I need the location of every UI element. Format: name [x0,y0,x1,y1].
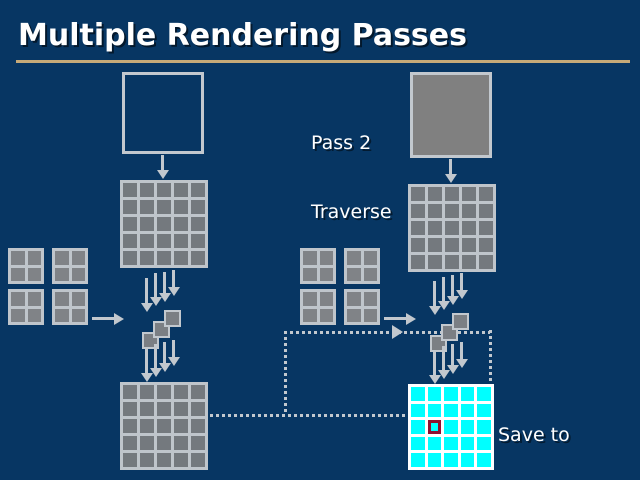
grid-cell [445,187,459,201]
grid-cell [411,187,425,201]
grid-cell [428,187,442,201]
middle-block-tile [344,289,380,325]
right-ray-arrow [442,346,445,371]
grid-cell [123,200,137,214]
left-ray-arrow [163,272,166,294]
grid-cell [191,402,205,416]
right-source-to-grid-arrow [449,159,452,175]
grid-cell [428,204,442,218]
grid-cell [191,385,205,399]
grid-cell [157,453,171,467]
block-cell [55,251,69,265]
grid-cell [191,200,205,214]
buffer-cell [461,387,475,401]
block-cell [28,309,42,323]
right-ray-arrow [460,273,463,291]
grid-cell [140,402,154,416]
grid-cell [140,419,154,433]
cascade-square [452,313,469,330]
offscreen-buffer-grid [408,384,494,470]
grid-cell [140,200,154,214]
grid-cell [123,183,137,197]
block-cell [55,309,69,323]
grid-cell [123,385,137,399]
block-cell [72,251,86,265]
grid-cell [191,419,205,433]
grid-cell [140,251,154,265]
save-to-offscreen-buffer-label: Save to offscreen buffer (ray voxel pr) [498,378,625,480]
left-block-tile [52,248,88,284]
grid-cell [191,234,205,248]
middle-block-tile [300,289,336,325]
save-label-line1: Save to [498,424,625,447]
grid-cell [462,255,476,269]
grid-cell [479,221,493,235]
title-divider [16,60,630,63]
buffer-cell [428,453,442,467]
grid-cell [157,436,171,450]
block-cell [364,309,378,323]
grid-cell [123,436,137,450]
grid-cell [123,217,137,231]
buffer-cell [444,420,458,434]
block-cell [72,292,86,306]
grid-cell [140,385,154,399]
buffer-cell [461,420,475,434]
left-ray-arrow [145,348,148,374]
block-cell [72,268,86,282]
grid-cell [479,238,493,252]
right-ray-arrow [433,350,436,376]
buffer-cell [411,387,425,401]
buffer-cell [444,404,458,418]
left-ray-arrow [154,273,157,298]
grid-cell [157,385,171,399]
grid-cell [174,234,188,248]
block-cell [28,292,42,306]
grid-cell [191,436,205,450]
grid-cell [411,238,425,252]
grid-cell [157,402,171,416]
grid-cell [462,238,476,252]
grid-cell [140,453,154,467]
middle-blocks-feed-arrow [384,317,406,320]
grid-cell [157,200,171,214]
grid-cell [479,187,493,201]
block-cell [11,251,25,265]
left-source-to-grid-arrow [161,155,164,171]
buffer-cell [411,453,425,467]
right-ray-arrow [442,277,445,302]
right-ray-arrow [460,342,463,360]
left-block-tile [8,248,44,284]
pass2-label-line2: Traverse [311,201,392,224]
grid-cell [191,251,205,265]
grid-cell [123,251,137,265]
right-ray-arrow [451,344,454,366]
left-block-tile [8,289,44,325]
feedback-path-vertical-left [284,331,287,415]
buffer-cell [444,387,458,401]
right-top-grid [408,184,496,272]
buffer-cell [461,437,475,451]
buffer-cell [428,387,442,401]
left-source-square [122,72,204,154]
grid-cell [140,436,154,450]
grid-cell [479,204,493,218]
grid-cell [174,453,188,467]
block-cell [11,292,25,306]
block-cell [55,268,69,282]
block-cell [55,292,69,306]
grid-cell [157,183,171,197]
buffer-cell [477,437,491,451]
grid-cell [123,234,137,248]
buffer-cell [461,404,475,418]
left-ray-arrow [172,270,175,288]
block-cell [28,251,42,265]
grid-cell [174,200,188,214]
slide-canvas: Multiple Rendering Passes [0,0,640,480]
buffer-cell [477,387,491,401]
left-ray-arrow [145,278,148,304]
buffer-cell [428,437,442,451]
block-cell [320,292,334,306]
grid-cell [428,255,442,269]
left-block-tile [52,289,88,325]
grid-cell [157,419,171,433]
grid-cell [157,234,171,248]
grid-cell [191,453,205,467]
right-ray-arrow [433,281,436,307]
grid-cell [157,251,171,265]
grid-cell [174,217,188,231]
grid-cell [157,217,171,231]
grid-cell [140,183,154,197]
grid-cell [123,453,137,467]
grid-cell [174,251,188,265]
left-blocks-feed-arrow [92,317,114,320]
grid-cell [445,255,459,269]
grid-cell [428,238,442,252]
right-ray-arrow [451,275,454,297]
page-title: Multiple Rendering Passes [18,18,467,53]
grid-cell [462,204,476,218]
grid-cell [174,183,188,197]
buffer-cell [411,437,425,451]
block-cell [303,309,317,323]
grid-cell [191,217,205,231]
feedback-path-arrowhead [392,325,403,339]
grid-cell [174,385,188,399]
left-top-grid [120,180,208,268]
grid-cell [479,255,493,269]
buffer-cell [477,404,491,418]
right-source-square [410,72,492,158]
buffer-cell-highlighted [428,420,442,434]
block-cell [364,292,378,306]
pass2-label: Pass 2 Traverse [311,86,392,270]
block-cell [11,268,25,282]
grid-cell [411,204,425,218]
pass2-label-line1: Pass 2 [311,132,392,155]
block-cell [72,309,86,323]
block-cell [347,292,361,306]
buffer-cell [411,404,425,418]
grid-cell [140,234,154,248]
grid-cell [140,217,154,231]
left-ray-arrow [172,340,175,358]
grid-cell [123,419,137,433]
grid-cell [462,187,476,201]
grid-cell [445,204,459,218]
block-cell [11,309,25,323]
grid-cell [428,221,442,235]
block-cell [347,309,361,323]
buffer-cell [461,453,475,467]
cascade-square [164,310,181,327]
grid-cell [462,221,476,235]
grid-cell [445,221,459,235]
buffer-cell [477,420,491,434]
buffer-cell [428,404,442,418]
grid-cell [191,183,205,197]
grid-cell [411,255,425,269]
block-cell [28,268,42,282]
buffer-cell [444,453,458,467]
left-result-grid [120,382,208,470]
buffer-cell [411,420,425,434]
grid-cell [174,402,188,416]
block-cell [303,292,317,306]
buffer-cell [444,437,458,451]
left-ray-arrow [154,344,157,369]
grid-cell [411,221,425,235]
block-cell [320,309,334,323]
grid-cell [445,238,459,252]
buffer-cell [477,453,491,467]
left-ray-arrow [163,342,166,364]
grid-cell [123,402,137,416]
grid-cell [174,419,188,433]
grid-cell [174,436,188,450]
